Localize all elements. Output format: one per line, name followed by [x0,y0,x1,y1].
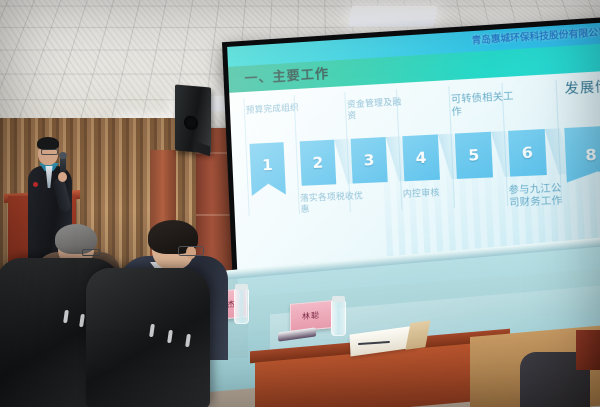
step-number: 8 [585,145,597,164]
office-chair [86,268,210,407]
step-chip: 1 [249,142,285,196]
step-chip: 4 [402,134,440,181]
step-number: 3 [351,150,387,170]
loudspeaker-box [175,84,211,153]
step-number: 6 [509,143,547,163]
attendee-a-glasses-icon [82,249,100,256]
bottle-cap [332,296,345,302]
water-bottle [331,300,346,336]
step-label: 参与九江公司财务工作 [508,183,565,210]
name-card-text: 林聪 [291,309,331,323]
step-number: 4 [403,148,439,168]
step-chip: 3 [351,137,388,184]
ceiling-light-panel [348,6,438,26]
presenter-hand [58,172,67,182]
step-chip: 5 [455,132,493,179]
presenter-lapel-badge [33,182,38,187]
speaker-driver-icon [184,115,198,130]
microphone-head [59,152,67,159]
step-chip: 6 [508,129,547,177]
conference-room-photo: 青岛惠城环保科技股份有限公司 一、主要工作 预算完成组织 1 [0,0,600,407]
step-chip: 2 [300,140,337,186]
presenter-glasses-icon [41,149,58,155]
step-number: 5 [455,145,492,165]
step-number: 1 [250,155,285,175]
step-number: 2 [300,153,335,173]
attendee-b-glasses-icon [178,246,204,256]
right-wood-edge [576,330,600,370]
water-bottle [234,288,249,324]
bottle-cap [235,284,248,290]
step-label: 发展储备人员 [564,76,600,99]
